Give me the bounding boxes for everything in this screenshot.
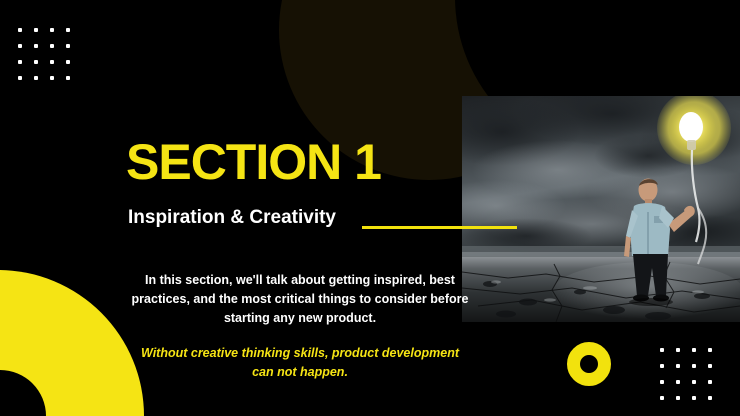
dot: [66, 76, 70, 80]
highlight-quote: Without creative thinking skills, produc…: [140, 344, 460, 382]
dot: [660, 380, 664, 384]
dot: [676, 380, 680, 384]
dot: [660, 396, 664, 400]
slide-subtitle: Inspiration & Creativity: [128, 206, 336, 230]
dot: [66, 44, 70, 48]
dot: [692, 380, 696, 384]
subtitle-underline-rule: [362, 226, 517, 229]
dot-grid-icon: [660, 348, 724, 412]
dot: [708, 364, 712, 368]
dot: [66, 28, 70, 32]
dot: [34, 60, 38, 64]
dot: [50, 44, 54, 48]
dot: [676, 348, 680, 352]
dot: [692, 348, 696, 352]
dot: [18, 44, 22, 48]
photo-illustration: [462, 96, 740, 322]
dot: [50, 28, 54, 32]
dot: [692, 396, 696, 400]
dot: [660, 364, 664, 368]
dot: [18, 76, 22, 80]
circle-ring-icon: [567, 342, 611, 386]
dot: [708, 396, 712, 400]
dot: [50, 60, 54, 64]
dot: [676, 364, 680, 368]
dot-grid-icon: [18, 28, 82, 92]
dot: [660, 348, 664, 352]
dot: [50, 76, 54, 80]
presentation-slide: SECTION 1 Inspiration & Creativity In th…: [0, 0, 740, 416]
dot: [708, 348, 712, 352]
dot: [692, 364, 696, 368]
body-paragraph: In this section, we'll talk about gettin…: [120, 271, 480, 328]
dot: [676, 396, 680, 400]
page-title: SECTION 1: [126, 136, 381, 188]
dot: [66, 60, 70, 64]
dot: [34, 28, 38, 32]
dot: [18, 28, 22, 32]
dot: [708, 380, 712, 384]
dot: [34, 76, 38, 80]
slide-photo: [462, 96, 740, 322]
dot: [34, 44, 38, 48]
dot: [18, 60, 22, 64]
